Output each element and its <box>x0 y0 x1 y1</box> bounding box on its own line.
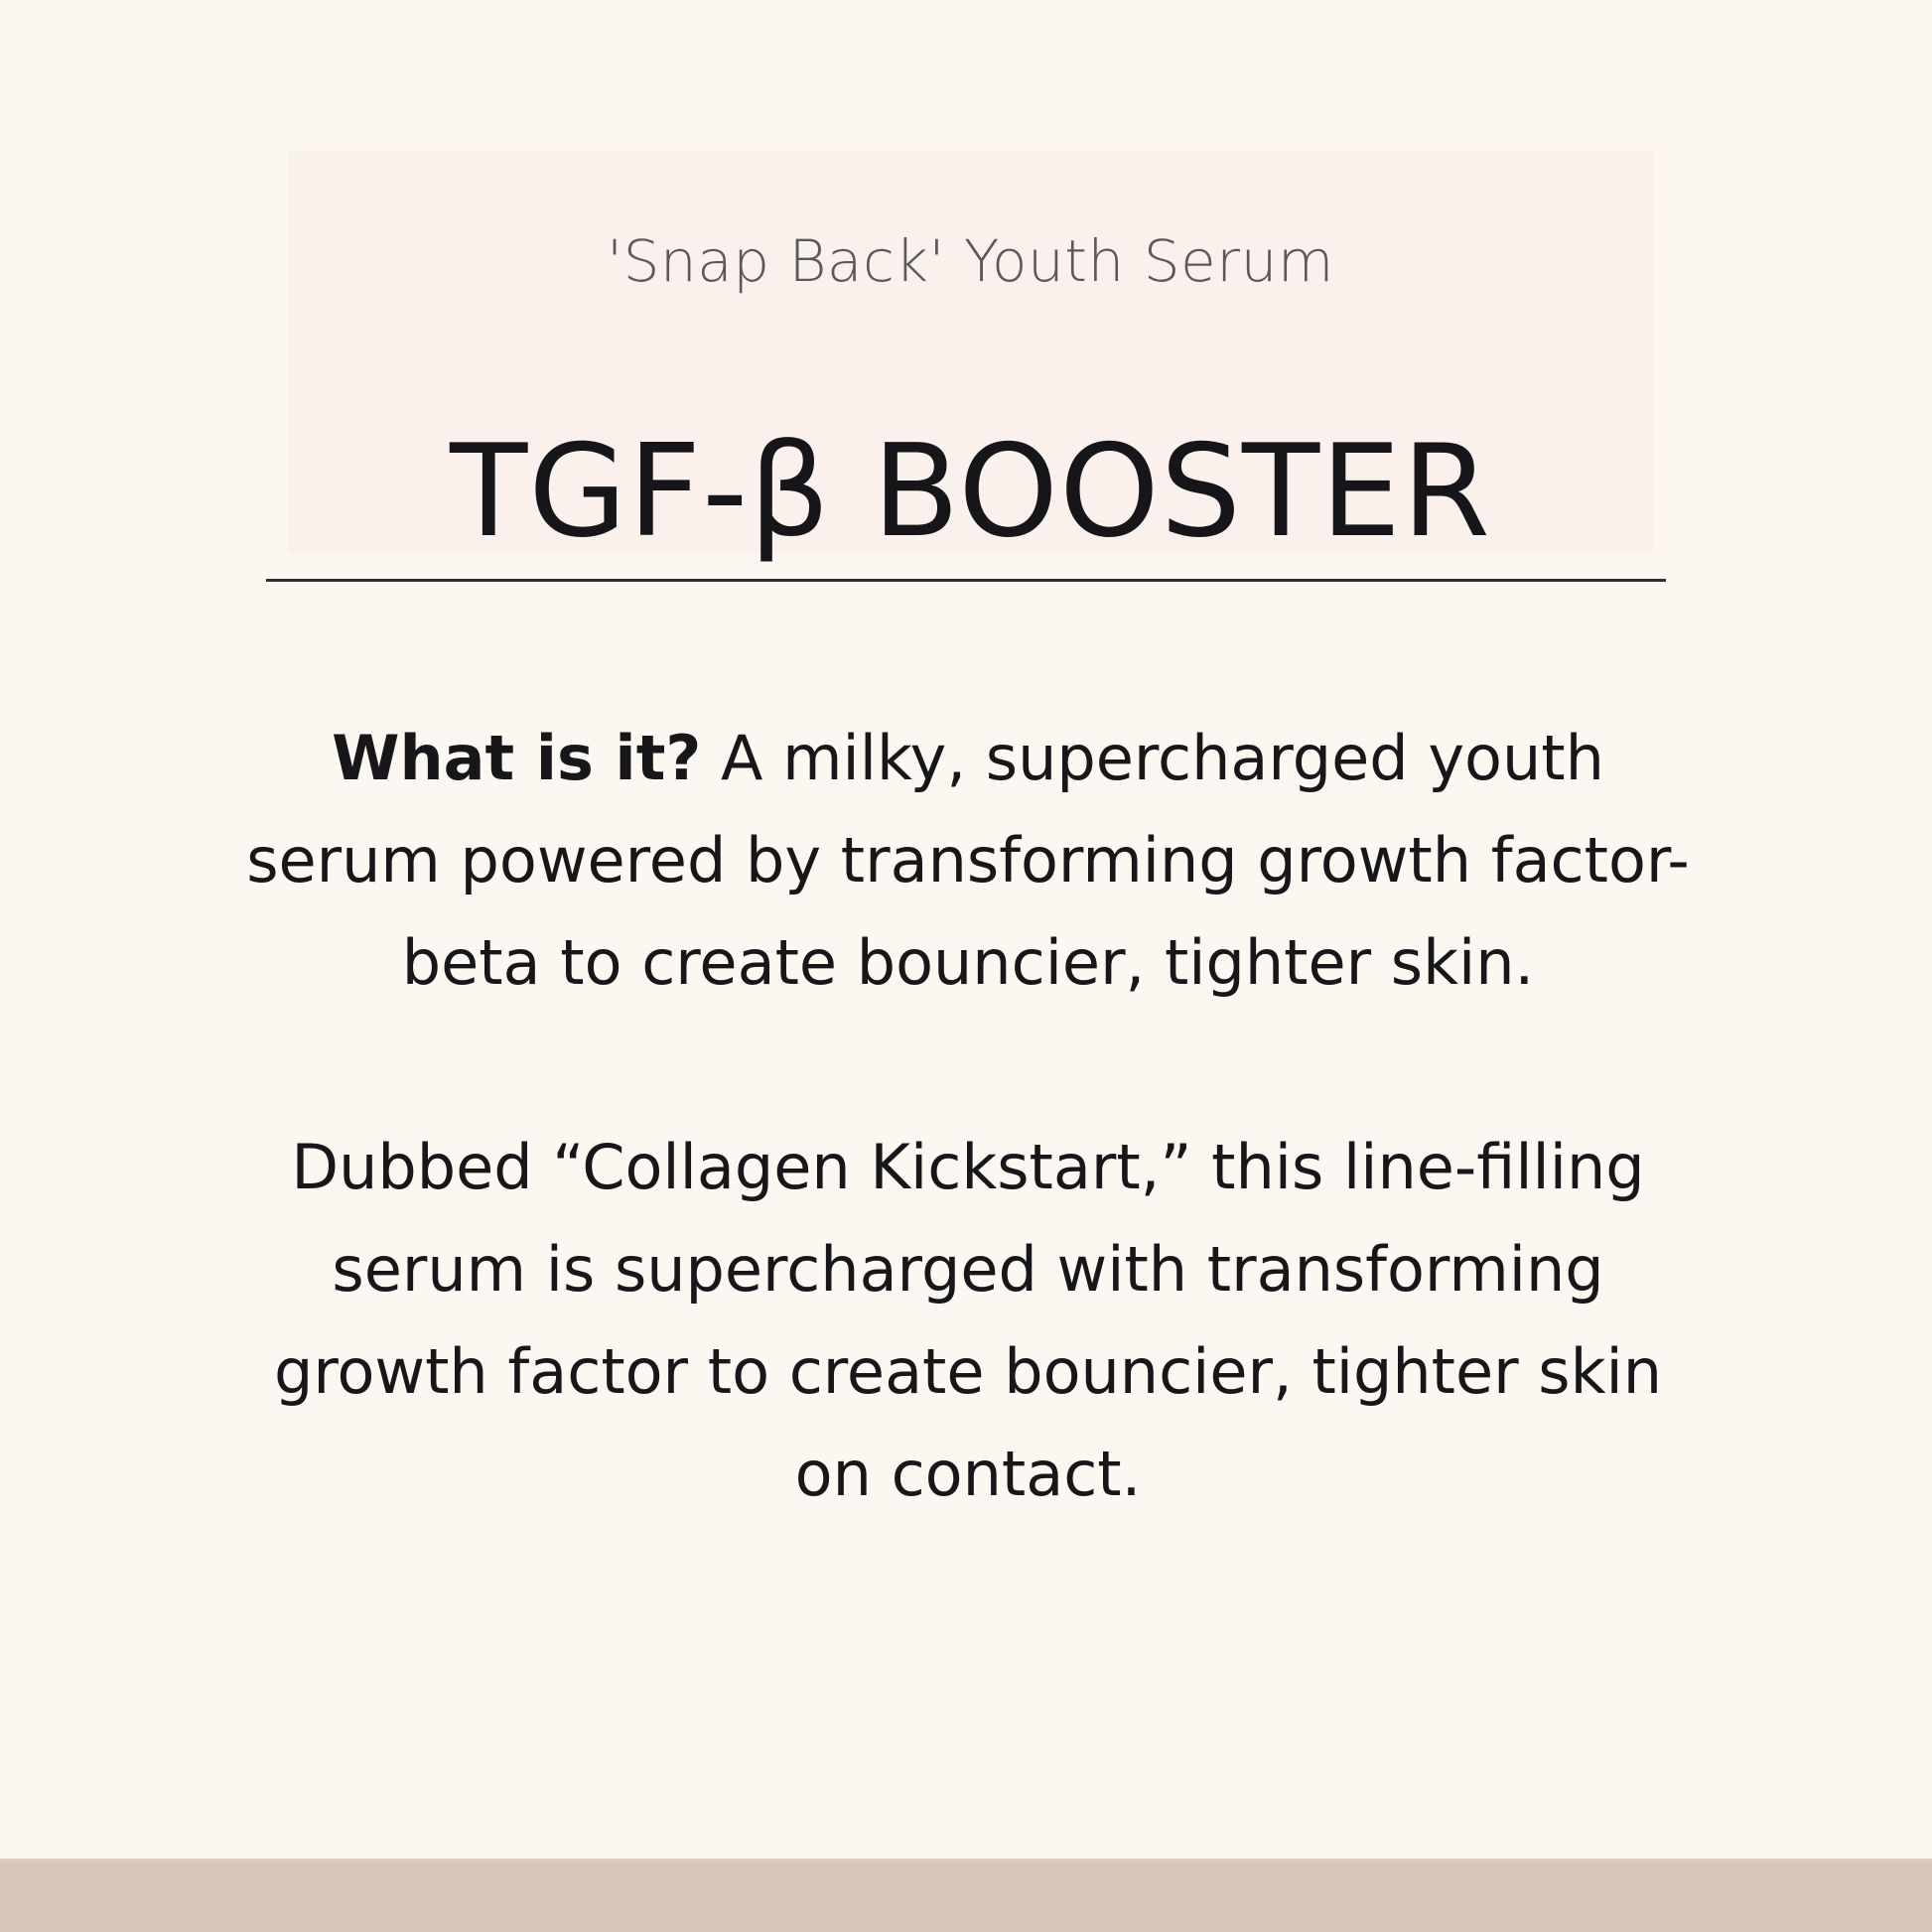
paragraph-collagen-kickstart: Dubbed “Collagen Kickstart,” this line-f… <box>233 1116 1703 1525</box>
footer-accent-bar <box>0 1859 1932 1932</box>
paragraph-lede: What is it? <box>332 722 701 794</box>
body-copy: What is it? A milky, supercharged youth … <box>233 707 1703 1525</box>
product-info-slide: 'Snap Back' Youth Serum TGF-β BOOSTER Wh… <box>0 0 1932 1932</box>
paragraph-text: Dubbed “Collagen Kickstart,” this line-f… <box>274 1131 1662 1510</box>
footer-hairline <box>0 1859 1932 1863</box>
product-eyebrow: 'Snap Back' Youth Serum <box>288 226 1653 296</box>
page-title: TGF-β BOOSTER <box>288 418 1653 567</box>
header-divider <box>266 579 1666 582</box>
paragraph-what-is-it: What is it? A milky, supercharged youth … <box>233 707 1703 1014</box>
